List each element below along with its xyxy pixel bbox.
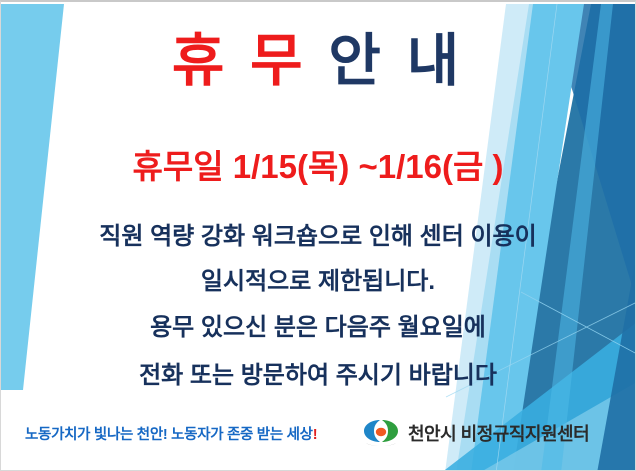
notice-body-line-1: 직원 역량 강화 워크숍으로 인해 센터 이용이 — [1, 225, 635, 249]
closure-dateline: 휴무일 1/15(목) ~1/16(금 ) — [1, 140, 635, 188]
footer-slogan: 노동가치가 빛나는 천안! 노동자가 존중 받는 세상! — [25, 423, 317, 444]
page-title: 휴 무 안 내 — [1, 30, 635, 93]
title-part-red: 휴 무 — [172, 29, 308, 93]
notice-body-line-3: 용무 있으신 분은 다음주 월요일에 — [1, 316, 635, 340]
emblem-center-dot — [376, 428, 386, 436]
poster-canvas: 휴 무 안 내 휴무일 1/15(목) ~1/16(금 ) 직원 역량 강화 워… — [0, 0, 636, 471]
poster-footer: 노동가치가 빛나는 천안! 노동자가 존중 받는 세상! 천안시 비정규직지원센… — [1, 416, 635, 462]
title-part-navy: 안 내 — [328, 29, 464, 93]
cheonan-city-emblem-icon — [361, 416, 401, 450]
footer-slogan-exclamation: ! — [313, 427, 318, 443]
footer-slogan-text: 노동가치가 빛나는 천안! 노동자가 존중 받는 세상 — [25, 427, 313, 443]
poster-content: 휴 무 안 내 휴무일 1/15(목) ~1/16(금 ) 직원 역량 강화 워… — [1, 2, 635, 470]
notice-body-line-2: 일시적으로 제한됩니다. — [1, 270, 635, 294]
notice-body-line-4: 전화 또는 방문하여 주시기 바랍니다 — [1, 364, 635, 388]
organization-name: 천안시 비정규직지원센터 — [408, 420, 589, 446]
emblem-base — [366, 443, 396, 446]
notice-body: 직원 역량 강화 워크숍으로 인해 센터 이용이 일시적으로 제한됩니다. 용무… — [1, 225, 635, 388]
organization-logo-block: 천안시 비정규직지원센터 — [361, 416, 589, 450]
